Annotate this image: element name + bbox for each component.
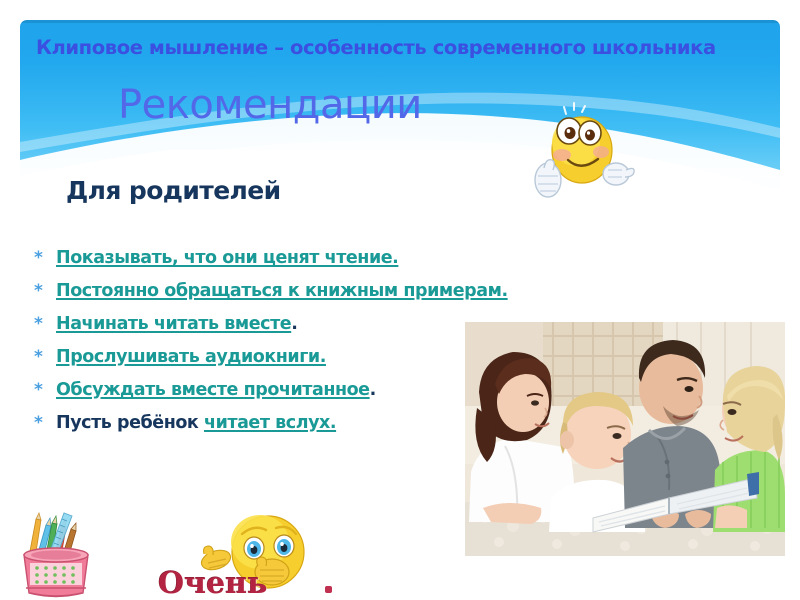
bullet-asterisk-icon: * bbox=[34, 281, 56, 301]
bullet-asterisk-icon: * bbox=[34, 347, 56, 367]
decorative-dot bbox=[325, 586, 332, 593]
list-item-link[interactable]: Показывать, что они ценят чтение. bbox=[56, 248, 398, 268]
list-item: * Показывать, что они ценят чтение. bbox=[34, 248, 474, 281]
pencil-cup-icon bbox=[14, 505, 98, 600]
ochen-word: Очень bbox=[158, 566, 268, 600]
list-item-link[interactable]: Начинать читать вместе bbox=[56, 314, 291, 334]
smiley-thumbs-up-icon bbox=[522, 98, 640, 203]
bullet-asterisk-icon: * bbox=[34, 314, 56, 334]
page-title: Рекомендации bbox=[118, 82, 422, 128]
list-item-link[interactable]: Постоянно обращаться к книжным примерам. bbox=[56, 281, 508, 301]
list-item: * Пусть ребёнок читает вслух. bbox=[34, 413, 474, 446]
section-heading: Для родителей bbox=[66, 176, 281, 205]
list-item-text: Постоянно обращаться к книжным примерам. bbox=[56, 281, 508, 301]
list-item-prefix: Пусть ребёнок bbox=[56, 413, 204, 433]
recommendation-list: * Показывать, что они ценят чтение. * По… bbox=[34, 248, 474, 446]
list-item-text: Показывать, что они ценят чтение. bbox=[56, 248, 398, 268]
list-item-link[interactable]: читает вслух. bbox=[204, 413, 336, 433]
list-item-text: Прослушивать аудиокниги. bbox=[56, 347, 326, 367]
list-item: * Постоянно обращаться к книжным примера… bbox=[34, 281, 474, 314]
family-reading-photo-inner bbox=[465, 322, 785, 556]
list-item-suffix: . bbox=[370, 380, 376, 400]
slide-supertitle: Клиповое мышление – особенность современ… bbox=[36, 36, 776, 59]
bullet-asterisk-icon: * bbox=[34, 413, 56, 433]
list-item: * Прослушивать аудиокниги. bbox=[34, 347, 474, 380]
list-item-text: Начинать читать вместе. bbox=[56, 314, 297, 334]
list-item-suffix: . bbox=[291, 314, 297, 334]
list-item-text: Пусть ребёнок читает вслух. bbox=[56, 413, 336, 433]
list-item: * Обсуждать вместе прочитанное. bbox=[34, 380, 474, 413]
family-photo-illustration bbox=[465, 322, 785, 556]
list-item-link[interactable]: Обсуждать вместе прочитанное bbox=[56, 380, 370, 400]
bullet-asterisk-icon: * bbox=[34, 380, 56, 400]
list-item-link[interactable]: Прослушивать аудиокниги. bbox=[56, 347, 326, 367]
list-item: * Начинать читать вместе. bbox=[34, 314, 474, 347]
family-reading-photo bbox=[465, 322, 785, 556]
bullet-asterisk-icon: * bbox=[34, 248, 56, 268]
slide-canvas: Клиповое мышление – особенность современ… bbox=[0, 0, 800, 600]
list-item-text: Обсуждать вместе прочитанное. bbox=[56, 380, 376, 400]
